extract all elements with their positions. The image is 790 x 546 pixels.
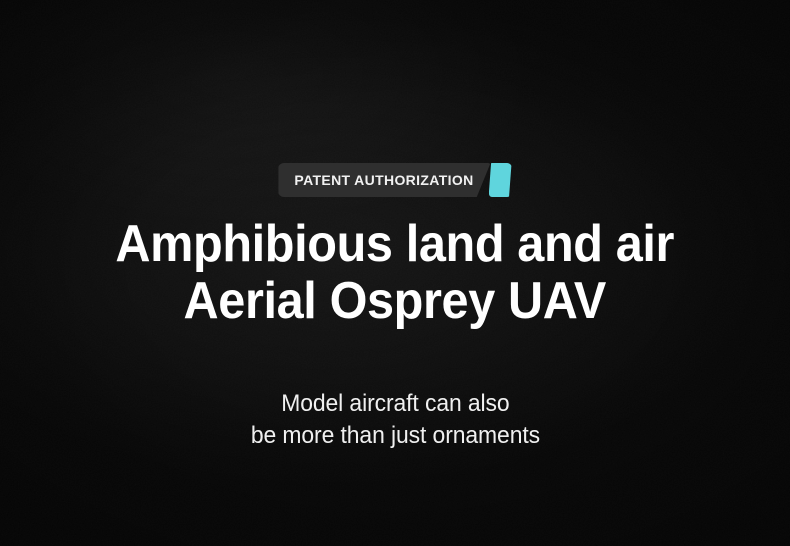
subtitle-line-1: Model aircraft can also (250, 388, 539, 420)
badge-plate: PATENT AUTHORIZATION (278, 163, 490, 197)
page-title: Amphibious land and air Aerial Osprey UA… (116, 216, 675, 329)
page-subtitle: Model aircraft can also be more than jus… (250, 388, 539, 452)
headline-line-2: Aerial Osprey UAV (116, 273, 675, 330)
hero-content: PATENT AUTHORIZATION Amphibious land and… (0, 0, 790, 546)
subtitle-line-2: be more than just ornaments (250, 420, 539, 452)
badge-label: PATENT AUTHORIZATION (294, 173, 473, 187)
headline-line-1: Amphibious land and air (116, 216, 675, 273)
badge-accent-shape (489, 163, 512, 197)
patent-authorization-badge: PATENT AUTHORIZATION (278, 163, 511, 197)
product-hero-banner: PATENT AUTHORIZATION Amphibious land and… (0, 0, 790, 546)
